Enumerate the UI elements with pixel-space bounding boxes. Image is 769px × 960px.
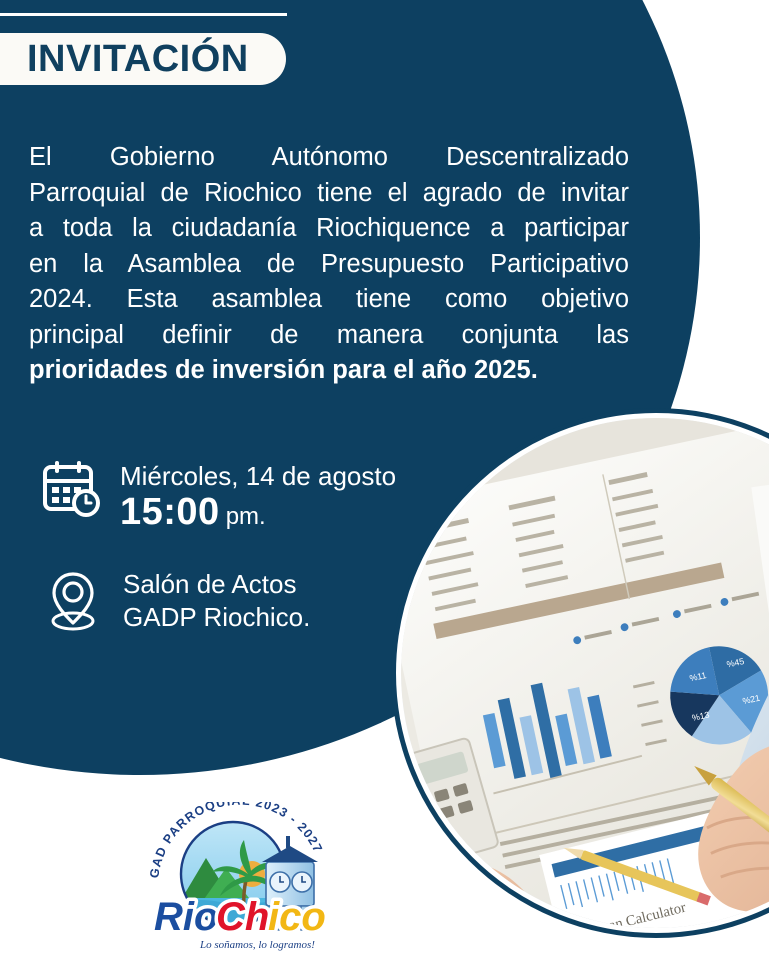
event-time-label: 15:00pm. xyxy=(120,492,396,540)
logo-word-ch: Ch xyxy=(216,895,269,939)
event-time-suffix: pm. xyxy=(220,503,266,530)
logo-word-rio: Rio xyxy=(154,895,218,939)
body-line-2: Parroquial de Riochico tiene el agrado d… xyxy=(29,176,629,212)
invitation-body: El Gobierno Autónomo Descentralizado Par… xyxy=(29,140,629,389)
logo-word-ico: ico xyxy=(268,895,326,939)
body-line-6: principal definir de manera conjunta las xyxy=(29,318,629,354)
event-day-label: Miércoles, 14 de agosto xyxy=(120,460,396,492)
event-date-row: Miércoles, 14 de agosto 15:00pm. xyxy=(40,460,396,540)
body-line-3: a toda la ciudadanía Riochiquence a part… xyxy=(29,211,629,247)
invitation-poster: INVITACIÓN El Gobierno Autónomo Descentr… xyxy=(0,0,769,960)
map-pin-icon xyxy=(43,568,103,632)
body-line-5: 2024. Esta asamblea tiene como objetivo xyxy=(29,282,629,318)
body-line-4: en la Asamblea de Presupuesto Participat… xyxy=(29,247,629,283)
event-location-text: Salón de Actos GADP Riochico. xyxy=(103,568,310,634)
invitation-title-pill: INVITACIÓN xyxy=(0,33,286,85)
event-date-text: Miércoles, 14 de agosto 15:00pm. xyxy=(106,460,396,540)
top-divider-rule xyxy=(0,13,287,16)
calendar-clock-icon xyxy=(40,460,106,518)
location-line-1: Salón de Actos xyxy=(123,568,310,601)
body-line-1: El Gobierno Autónomo Descentralizado xyxy=(29,140,629,176)
event-location-row: Salón de Actos GADP Riochico. xyxy=(43,568,310,634)
logo-tagline: Lo soñamos, lo logramos! xyxy=(199,939,315,951)
riochico-gad-logo: GAD PARROQUIAL 2023 - 2027 xyxy=(140,802,340,952)
location-line-2: GADP Riochico. xyxy=(123,601,310,634)
event-time-value: 15:00 xyxy=(120,491,220,533)
page-title: INVITACIÓN xyxy=(0,40,249,78)
body-highlight-line: prioridades de inversión para el año 202… xyxy=(29,353,629,389)
